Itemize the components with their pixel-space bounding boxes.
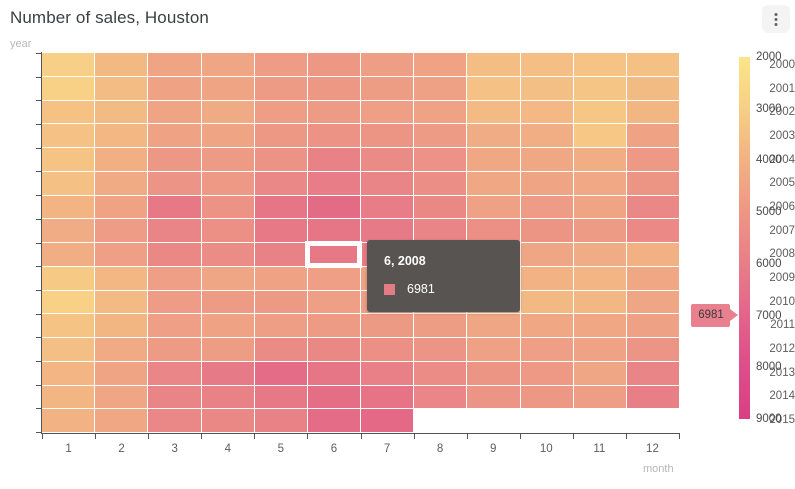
heatmap-cell[interactable] <box>42 172 94 195</box>
x-axis-tick-label: 8 <box>420 443 460 455</box>
menu-dot <box>775 23 778 26</box>
heatmap-cell[interactable] <box>148 219 200 242</box>
heatmap-cell[interactable] <box>361 172 413 195</box>
legend-tick-label: 4000 <box>756 154 782 166</box>
heatmap-cell[interactable] <box>95 267 147 290</box>
tooltip-value: 6981 <box>407 282 435 296</box>
x-axis-tick-label: 1 <box>49 443 89 455</box>
heatmap-cell[interactable] <box>255 124 307 147</box>
heatmap-cell[interactable] <box>521 409 573 432</box>
heatmap-cell[interactable] <box>574 124 626 147</box>
heatmap-cell[interactable] <box>308 243 360 266</box>
heatmap-cell[interactable] <box>627 53 679 76</box>
heatmap-cell[interactable] <box>627 243 679 266</box>
heatmap-cell[interactable] <box>627 386 679 409</box>
heatmap-cell[interactable] <box>467 386 519 409</box>
heatmap-cell[interactable] <box>361 124 413 147</box>
heatmap-cell[interactable] <box>95 291 147 314</box>
heatmap-cell[interactable] <box>148 386 200 409</box>
heatmap-cell[interactable] <box>467 409 519 432</box>
heatmap-cell[interactable] <box>202 148 254 171</box>
heatmap-cell[interactable] <box>521 362 573 385</box>
heatmap-cell[interactable] <box>414 219 466 242</box>
heatmap-cell[interactable] <box>202 338 254 361</box>
heatmap-cell[interactable] <box>627 101 679 124</box>
page-title: Number of sales, Houston <box>10 8 209 28</box>
heatmap-cell[interactable] <box>95 53 147 76</box>
heatmap-cell[interactable] <box>42 409 94 432</box>
heatmap-cell[interactable] <box>308 219 360 242</box>
color-legend-gradient[interactable] <box>739 57 750 419</box>
tooltip: 6, 2008 6981 <box>367 240 520 312</box>
heatmap-cell[interactable] <box>361 148 413 171</box>
heatmap-cell[interactable] <box>255 53 307 76</box>
heatmap-cell[interactable] <box>148 124 200 147</box>
heatmap-cell[interactable] <box>574 101 626 124</box>
x-axis-tick-label: 3 <box>155 443 195 455</box>
heatmap-cell[interactable] <box>95 77 147 100</box>
heatmap-cell[interactable] <box>521 219 573 242</box>
heatmap-cell[interactable] <box>414 77 466 100</box>
heatmap-cell[interactable] <box>574 291 626 314</box>
heatmap-cell[interactable] <box>255 386 307 409</box>
heatmap-cell[interactable] <box>202 124 254 147</box>
legend-tick-label: 6000 <box>756 258 782 270</box>
heatmap-cell[interactable] <box>414 362 466 385</box>
heatmap-cell[interactable] <box>148 196 200 219</box>
heatmap-cell[interactable] <box>308 53 360 76</box>
heatmap-cell[interactable] <box>95 314 147 337</box>
heatmap-cell[interactable] <box>521 172 573 195</box>
heatmap-cell[interactable] <box>467 219 519 242</box>
heatmap-cell[interactable] <box>42 338 94 361</box>
legend-tick-label: 8000 <box>756 361 782 373</box>
x-axis-tick <box>414 433 415 439</box>
heatmap-cell[interactable] <box>521 53 573 76</box>
heatmap-cell[interactable] <box>627 291 679 314</box>
heatmap-cell[interactable] <box>148 172 200 195</box>
y-axis-tick <box>36 124 42 125</box>
y-axis-tick <box>36 290 42 291</box>
y-axis-tick <box>36 77 42 78</box>
heatmap-cell[interactable] <box>308 172 360 195</box>
heatmap-cell[interactable] <box>202 77 254 100</box>
legend-value-marker: 6981 <box>691 304 730 327</box>
heatmap-cell[interactable] <box>95 338 147 361</box>
heatmap-cell[interactable] <box>148 267 200 290</box>
heatmap-cell[interactable] <box>255 148 307 171</box>
heatmap-cell[interactable] <box>255 314 307 337</box>
heatmap-cell[interactable] <box>42 196 94 219</box>
heatmap-cell[interactable] <box>42 148 94 171</box>
heatmap-cell[interactable] <box>255 219 307 242</box>
heatmap-cell[interactable] <box>361 219 413 242</box>
y-axis-tick <box>36 314 42 315</box>
x-axis-tick-label: 7 <box>367 443 407 455</box>
y-axis-tick-label: 2012 <box>761 343 795 355</box>
heatmap-cell[interactable] <box>202 267 254 290</box>
heatmap-cell[interactable] <box>308 124 360 147</box>
heatmap-cell[interactable] <box>521 314 573 337</box>
heatmap-cell[interactable] <box>255 291 307 314</box>
heatmap-cell[interactable] <box>95 172 147 195</box>
heatmap-cell[interactable] <box>148 53 200 76</box>
y-axis-tick-label: 2007 <box>761 225 795 237</box>
heatmap-cell[interactable] <box>308 409 360 432</box>
heatmap-cell[interactable] <box>255 362 307 385</box>
legend-tick-label: 7000 <box>756 310 782 322</box>
heatmap-cell[interactable] <box>202 172 254 195</box>
heatmap-cell[interactable] <box>42 219 94 242</box>
heatmap-cell[interactable] <box>467 172 519 195</box>
x-axis-tick-label: 5 <box>261 443 301 455</box>
heatmap-cell[interactable] <box>574 314 626 337</box>
heatmap-cell[interactable] <box>308 148 360 171</box>
y-axis-tick <box>36 337 42 338</box>
heatmap-cell[interactable] <box>574 362 626 385</box>
heatmap-cell[interactable] <box>42 77 94 100</box>
heatmap-cell[interactable] <box>574 148 626 171</box>
x-axis-tick <box>679 433 680 439</box>
heatmap-cell[interactable] <box>95 148 147 171</box>
x-axis-tick-label: 2 <box>102 443 142 455</box>
x-axis-tick <box>201 433 202 439</box>
heatmap-cell[interactable] <box>574 219 626 242</box>
heatmap-cell[interactable] <box>308 386 360 409</box>
legend-tick-label: 9000 <box>756 413 782 425</box>
heatmap-cell[interactable] <box>361 314 413 337</box>
heatmap-cell[interactable] <box>414 314 466 337</box>
heatmap-cell[interactable] <box>255 267 307 290</box>
heatmap-cell[interactable] <box>521 101 573 124</box>
x-axis-tick-label: 4 <box>208 443 248 455</box>
heatmap-cell[interactable] <box>255 101 307 124</box>
x-axis-tick <box>95 433 96 439</box>
y-axis-tick <box>36 148 42 149</box>
heatmap-cell[interactable] <box>42 386 94 409</box>
heatmap-cell[interactable] <box>42 267 94 290</box>
heatmap-cell[interactable] <box>361 338 413 361</box>
heatmap-cell[interactable] <box>574 53 626 76</box>
heatmap-cell[interactable] <box>467 101 519 124</box>
heatmap-cell[interactable] <box>627 172 679 195</box>
heatmap-cell[interactable] <box>467 77 519 100</box>
heatmap-cell[interactable] <box>467 338 519 361</box>
heatmap-cell[interactable] <box>148 243 200 266</box>
y-axis-tick-label: 2001 <box>761 83 795 95</box>
heatmap-cell[interactable] <box>148 291 200 314</box>
heatmap-cell[interactable] <box>574 243 626 266</box>
heatmap-cell[interactable] <box>627 124 679 147</box>
x-axis-label: month <box>643 463 674 475</box>
heatmap-cell[interactable] <box>202 409 254 432</box>
heatmap-cell[interactable] <box>95 243 147 266</box>
heatmap-cell[interactable] <box>202 243 254 266</box>
heatmap-cell[interactable] <box>255 77 307 100</box>
heatmap-cell[interactable] <box>627 362 679 385</box>
heatmap-cell[interactable] <box>255 338 307 361</box>
heatmap-cell[interactable] <box>308 338 360 361</box>
heatmap-cell[interactable] <box>574 267 626 290</box>
heatmap-cell[interactable] <box>202 219 254 242</box>
heatmap-cell[interactable] <box>414 124 466 147</box>
heatmap-cell[interactable] <box>255 172 307 195</box>
heatmap-cell[interactable] <box>521 386 573 409</box>
heatmap-cell[interactable] <box>95 196 147 219</box>
heatmap-cell[interactable] <box>361 77 413 100</box>
heatmap-grid <box>42 53 679 432</box>
x-axis-tick-label: 6 <box>314 443 354 455</box>
y-axis-tick <box>36 100 42 101</box>
heatmap-cell[interactable] <box>95 409 147 432</box>
heatmap-cell[interactable] <box>627 219 679 242</box>
heatmap-cell[interactable] <box>308 362 360 385</box>
heatmap-cell[interactable] <box>467 53 519 76</box>
heatmap-cell[interactable] <box>414 338 466 361</box>
heatmap-cell[interactable] <box>202 291 254 314</box>
heatmap-cell[interactable] <box>521 148 573 171</box>
heatmap-cell[interactable] <box>414 409 466 432</box>
heatmap-cell[interactable] <box>308 77 360 100</box>
heatmap-cell[interactable] <box>95 362 147 385</box>
legend-marker-arrow-icon <box>730 309 738 321</box>
heatmap-cell[interactable] <box>467 314 519 337</box>
heatmap-cell[interactable] <box>627 196 679 219</box>
x-axis-tick-label: 9 <box>473 443 513 455</box>
heatmap-cell[interactable] <box>414 386 466 409</box>
heatmap-cell[interactable] <box>521 243 573 266</box>
heatmap-cell[interactable] <box>308 267 360 290</box>
heatmap-cell[interactable] <box>42 101 94 124</box>
heatmap-cell[interactable] <box>521 291 573 314</box>
heatmap-cell[interactable] <box>414 53 466 76</box>
heatmap-cell[interactable] <box>574 172 626 195</box>
tooltip-color-swatch <box>384 284 395 295</box>
heatmap-cell[interactable] <box>414 101 466 124</box>
heatmap-cell[interactable] <box>42 291 94 314</box>
heatmap-cell[interactable] <box>148 362 200 385</box>
y-axis-tick <box>36 385 42 386</box>
y-axis-label: year <box>10 38 31 50</box>
heatmap-cell[interactable] <box>627 77 679 100</box>
y-axis-tick <box>36 408 42 409</box>
x-axis-tick-label: 11 <box>579 443 619 455</box>
heatmap-cell[interactable] <box>414 196 466 219</box>
x-axis-tick <box>307 433 308 439</box>
heatmap-cell[interactable] <box>467 196 519 219</box>
heatmap-cell[interactable] <box>627 314 679 337</box>
y-axis-tick <box>36 53 42 54</box>
x-axis-tick <box>254 433 255 439</box>
heatmap-cell[interactable] <box>255 243 307 266</box>
heatmap-cell[interactable] <box>42 124 94 147</box>
heatmap-cell[interactable] <box>627 148 679 171</box>
y-axis-tick <box>36 171 42 172</box>
y-axis-tick-label: 2010 <box>761 296 795 308</box>
heatmap-cell[interactable] <box>521 196 573 219</box>
heatmap-cell[interactable] <box>361 53 413 76</box>
heatmap-cell[interactable] <box>148 148 200 171</box>
heatmap-cell[interactable] <box>148 314 200 337</box>
heatmap-cell[interactable] <box>627 409 679 432</box>
heatmap-cell[interactable] <box>627 338 679 361</box>
heatmap-plot-area[interactable] <box>42 53 679 432</box>
y-axis-tick <box>36 266 42 267</box>
heatmap-cell[interactable] <box>202 362 254 385</box>
heatmap-cell[interactable] <box>521 77 573 100</box>
heatmap-cell[interactable] <box>42 314 94 337</box>
heatmap-cell[interactable] <box>574 338 626 361</box>
legend-tick-label: 3000 <box>756 103 782 115</box>
heatmap-cell[interactable] <box>148 338 200 361</box>
heatmap-cell[interactable] <box>574 386 626 409</box>
heatmap-cell[interactable] <box>627 267 679 290</box>
heatmap-cell[interactable] <box>95 219 147 242</box>
heatmap-cell[interactable] <box>361 362 413 385</box>
x-axis-tick <box>573 433 574 439</box>
x-axis-tick <box>148 433 149 439</box>
heatmap-cell[interactable] <box>308 291 360 314</box>
heatmap-cell[interactable] <box>467 124 519 147</box>
heatmap-cell[interactable] <box>202 101 254 124</box>
x-axis-tick <box>626 433 627 439</box>
heatmap-cell[interactable] <box>255 196 307 219</box>
heatmap-cell[interactable] <box>361 409 413 432</box>
heatmap-cell[interactable] <box>308 101 360 124</box>
x-axis-tick-label: 10 <box>526 443 566 455</box>
heatmap-cell[interactable] <box>308 196 360 219</box>
heatmap-cell[interactable] <box>521 124 573 147</box>
y-axis-tick <box>36 195 42 196</box>
heatmap-cell[interactable] <box>202 196 254 219</box>
x-axis-tick <box>467 433 468 439</box>
heatmap-cell[interactable] <box>414 148 466 171</box>
heatmap-cell[interactable] <box>202 314 254 337</box>
heatmap-cell[interactable] <box>521 267 573 290</box>
heatmap-cell[interactable] <box>361 196 413 219</box>
heatmap-cell[interactable] <box>574 77 626 100</box>
chart-container: Number of sales, Houston year month 2000… <box>0 0 795 489</box>
y-axis-tick <box>36 219 42 220</box>
y-axis-tick-label: 2014 <box>761 390 795 402</box>
heatmap-cell[interactable] <box>202 386 254 409</box>
tooltip-title: 6, 2008 <box>384 254 426 268</box>
heatmap-cell[interactable] <box>414 172 466 195</box>
heatmap-cell[interactable] <box>361 386 413 409</box>
heatmap-cell[interactable] <box>148 409 200 432</box>
legend-marker-label: 6981 <box>691 304 730 323</box>
heatmap-cell[interactable] <box>95 124 147 147</box>
heatmap-cell[interactable] <box>42 362 94 385</box>
heatmap-cell[interactable] <box>308 314 360 337</box>
x-axis-tick <box>42 433 43 439</box>
heatmap-cell[interactable] <box>255 409 307 432</box>
x-axis-tick <box>361 433 362 439</box>
heatmap-cell[interactable] <box>42 53 94 76</box>
y-axis-tick <box>36 243 42 244</box>
heatmap-cell[interactable] <box>148 77 200 100</box>
menu-dot <box>775 18 778 21</box>
y-axis-tick-label: 2009 <box>761 272 795 284</box>
heatmap-cell[interactable] <box>202 53 254 76</box>
menu-dot <box>775 13 778 16</box>
heatmap-cell[interactable] <box>95 101 147 124</box>
legend-tick-label: 5000 <box>756 206 782 218</box>
heatmap-cell[interactable] <box>95 386 147 409</box>
more-vert-icon[interactable] <box>762 5 790 33</box>
y-axis-tick-label: 2003 <box>761 130 795 142</box>
heatmap-cell[interactable] <box>42 243 94 266</box>
y-axis-tick-label: 2005 <box>761 177 795 189</box>
heatmap-cell[interactable] <box>574 409 626 432</box>
heatmap-cell[interactable] <box>467 362 519 385</box>
heatmap-cell[interactable] <box>467 148 519 171</box>
heatmap-cell[interactable] <box>521 338 573 361</box>
x-axis-tick-label: 12 <box>632 443 672 455</box>
y-axis-tick <box>36 361 42 362</box>
x-axis-tick <box>520 433 521 439</box>
heatmap-cell[interactable] <box>574 196 626 219</box>
heatmap-cell[interactable] <box>148 101 200 124</box>
legend-tick-label: 2000 <box>756 51 782 63</box>
heatmap-cell[interactable] <box>361 101 413 124</box>
